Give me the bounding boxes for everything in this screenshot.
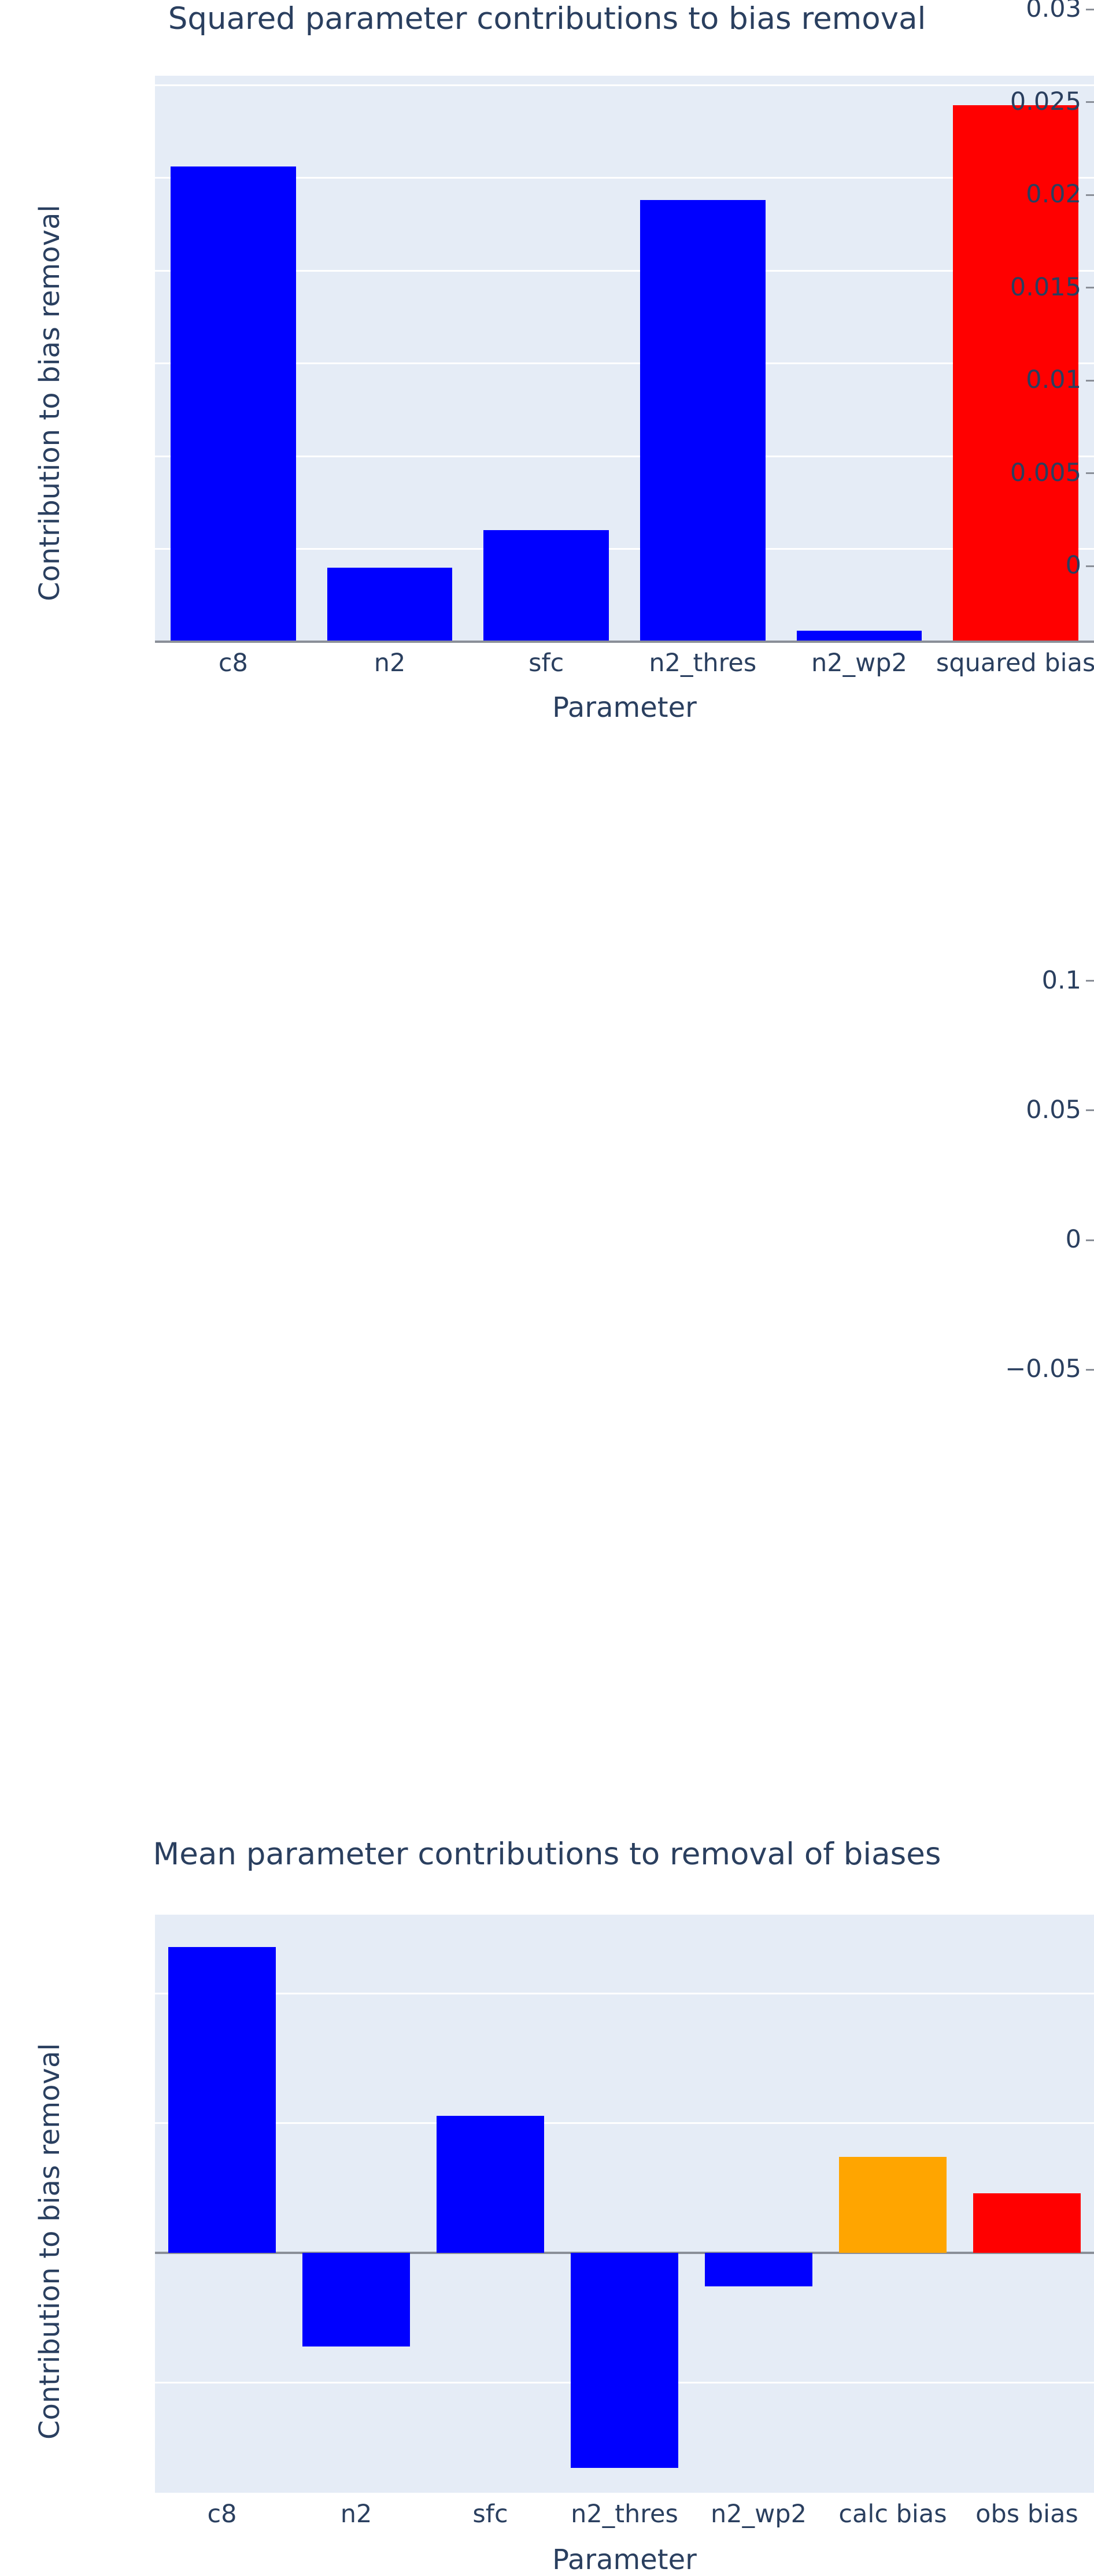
plot-area-mean [155, 1915, 1094, 2493]
x-tick-label: n2 [374, 651, 406, 676]
y-tick-mark [1086, 565, 1094, 567]
y-tick-mark [1086, 1109, 1094, 1111]
x-tick-label: n2_wp2 [811, 651, 907, 676]
x-tick-label: calc bias [838, 2502, 947, 2527]
y-tick-label: 0.05 [1026, 1098, 1081, 1123]
figure-root: Squared parameter contributions to bias … [0, 0, 1094, 1689]
x-tick-label: n2_wp2 [711, 2502, 807, 2527]
x-axis-line [155, 641, 1094, 643]
y-tick-mark [1086, 380, 1094, 382]
y-tick-mark [1086, 101, 1094, 103]
y-tick-label: 0 [1066, 553, 1081, 578]
y-axis-squared: 00.0050.010.0150.020.0250.03 [0, 0, 145, 566]
chart-panel-squared: Squared parameter contributions to bias … [0, 0, 1094, 752]
bar[interactable] [483, 530, 609, 642]
bar[interactable] [839, 2157, 947, 2253]
y-tick-label: 0.025 [1010, 90, 1081, 114]
y-tick-mark [1086, 1369, 1094, 1371]
x-tick-label: n2_thres [571, 2502, 678, 2527]
gridline [155, 84, 1094, 86]
y-tick-label: 0.005 [1010, 461, 1081, 486]
y-tick-mark [1086, 9, 1094, 10]
bar[interactable] [302, 2253, 410, 2346]
y-axis-title-squared: Contribution to bias removal [34, 205, 66, 601]
x-tick-label: n2_thres [649, 651, 756, 676]
bar[interactable] [168, 1947, 276, 2253]
x-tick-label: c8 [219, 651, 248, 676]
x-axis-title-squared: Parameter [155, 691, 1094, 724]
plot-area-squared [155, 76, 1094, 642]
y-tick-label: −0.05 [1005, 1357, 1081, 1382]
chart-panel-mean: Mean parameter contributions to removal … [0, 902, 1094, 1689]
y-tick-mark [1086, 472, 1094, 474]
bar[interactable] [171, 166, 296, 642]
x-tick-label: sfc [528, 651, 564, 676]
y-tick-mark [1086, 287, 1094, 288]
y-tick-label: 0.01 [1026, 368, 1081, 393]
x-tick-label: c8 [208, 2502, 237, 2527]
y-tick-mark [1086, 980, 1094, 982]
x-axis-title-mean: Parameter [155, 2544, 1094, 2576]
chart-title-mean: Mean parameter contributions to removal … [0, 1837, 1094, 1872]
x-tick-label: obs bias [975, 2502, 1078, 2527]
y-tick-mark [1086, 1239, 1094, 1241]
bar[interactable] [327, 568, 453, 642]
bar[interactable] [571, 2253, 678, 2468]
bar[interactable] [705, 2253, 812, 2286]
bar[interactable] [437, 2116, 544, 2253]
chart-title-squared: Squared parameter contributions to bias … [0, 1, 1094, 36]
x-axis-squared: c8n2sfcn2_thresn2_wp2squared bias [155, 651, 1094, 686]
y-axis-mean: −0.0500.050.1 [0, 902, 145, 1480]
bar[interactable] [640, 200, 766, 642]
y-axis-title-mean: Contribution to bias removal [34, 2043, 66, 2440]
y-tick-label: 0 [1066, 1227, 1081, 1252]
y-tick-mark [1086, 194, 1094, 196]
bar[interactable] [973, 2193, 1081, 2253]
x-tick-label: n2 [341, 2502, 372, 2527]
y-tick-label: 0.03 [1026, 0, 1081, 21]
x-tick-label: sfc [472, 2502, 508, 2527]
y-tick-label: 0.02 [1026, 182, 1081, 207]
y-tick-label: 0.1 [1042, 968, 1081, 993]
gridline [155, 2122, 1094, 2124]
x-tick-label: squared bias [936, 651, 1094, 676]
gridline [155, 1993, 1094, 1994]
y-tick-label: 0.015 [1010, 275, 1081, 300]
x-axis-mean: c8n2sfcn2_thresn2_wp2calc biasobs bias [155, 2502, 1094, 2537]
